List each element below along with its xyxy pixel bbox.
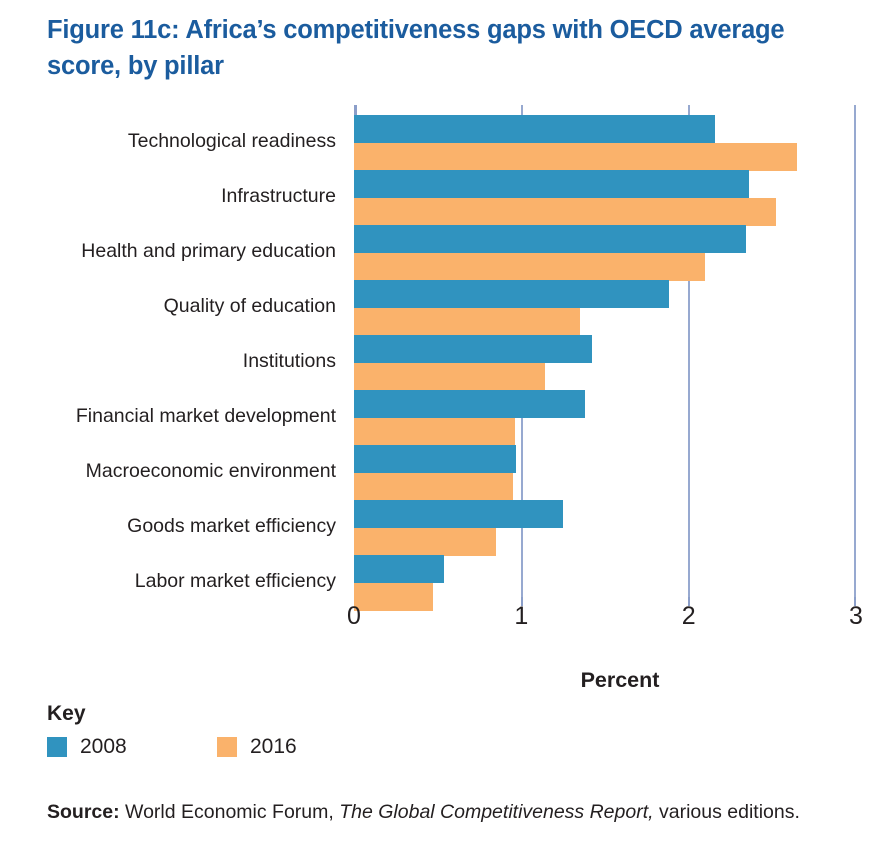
category-label: Quality of education [164,294,336,318]
bar-2016-5 [354,418,515,446]
bar-2016-4 [354,363,545,391]
x-tick-label: 0 [334,602,374,631]
category-label: Macroeconomic environment [86,459,336,483]
legend-items: 20082016 [47,735,547,765]
bar-2016-0 [354,143,797,171]
bar-2008-8 [354,555,444,583]
legend-label: 2008 [80,735,127,759]
bar-2008-3 [354,280,669,308]
legend-swatch-icon [47,737,67,757]
source-publication: The Global Competitiveness Report, [339,801,653,823]
bar-2008-7 [354,500,563,528]
x-tick-label: 2 [669,602,709,631]
category-label: Technological readiness [128,129,336,153]
bar-2008-4 [354,335,592,363]
category-label: Goods market efficiency [127,514,336,538]
bar-2016-7 [354,528,496,556]
bar-2016-6 [354,473,513,501]
x-tick-label: 1 [501,602,541,631]
bar-2008-1 [354,170,749,198]
source-text-2: various editions. [659,801,800,823]
x-tick-label: 3 [836,602,876,631]
legend: Key 20082016 [47,702,547,765]
category-axis-labels: Technological readinessInfrastructureHea… [0,105,344,597]
source-label: Source: [47,801,120,823]
category-label: Institutions [243,349,336,373]
bar-2016-1 [354,198,776,226]
bar-2008-0 [354,115,715,143]
gridline-3 [854,105,856,597]
bar-2016-2 [354,253,705,281]
value-axis-labels: 0123 [0,602,892,638]
bar-2016-3 [354,308,580,336]
category-label: Health and primary education [81,239,336,263]
legend-item-2008[interactable]: 2008 [47,735,127,759]
legend-label: 2016 [250,735,297,759]
x-axis-title: Percent [455,668,785,693]
legend-item-2016[interactable]: 2016 [217,735,297,759]
category-label: Infrastructure [221,184,336,208]
category-label: Financial market development [76,404,336,428]
bar-chart: Technological readinessInfrastructureHea… [0,0,892,640]
bar-2008-2 [354,225,746,253]
plot-area [354,105,856,597]
bar-2008-6 [354,445,516,473]
source-text-1: World Economic Forum, [125,801,334,823]
legend-title: Key [47,702,547,726]
bar-2008-5 [354,390,585,418]
source-note: Source: World Economic Forum, The Global… [47,798,857,826]
category-label: Labor market efficiency [135,569,336,593]
legend-swatch-icon [217,737,237,757]
